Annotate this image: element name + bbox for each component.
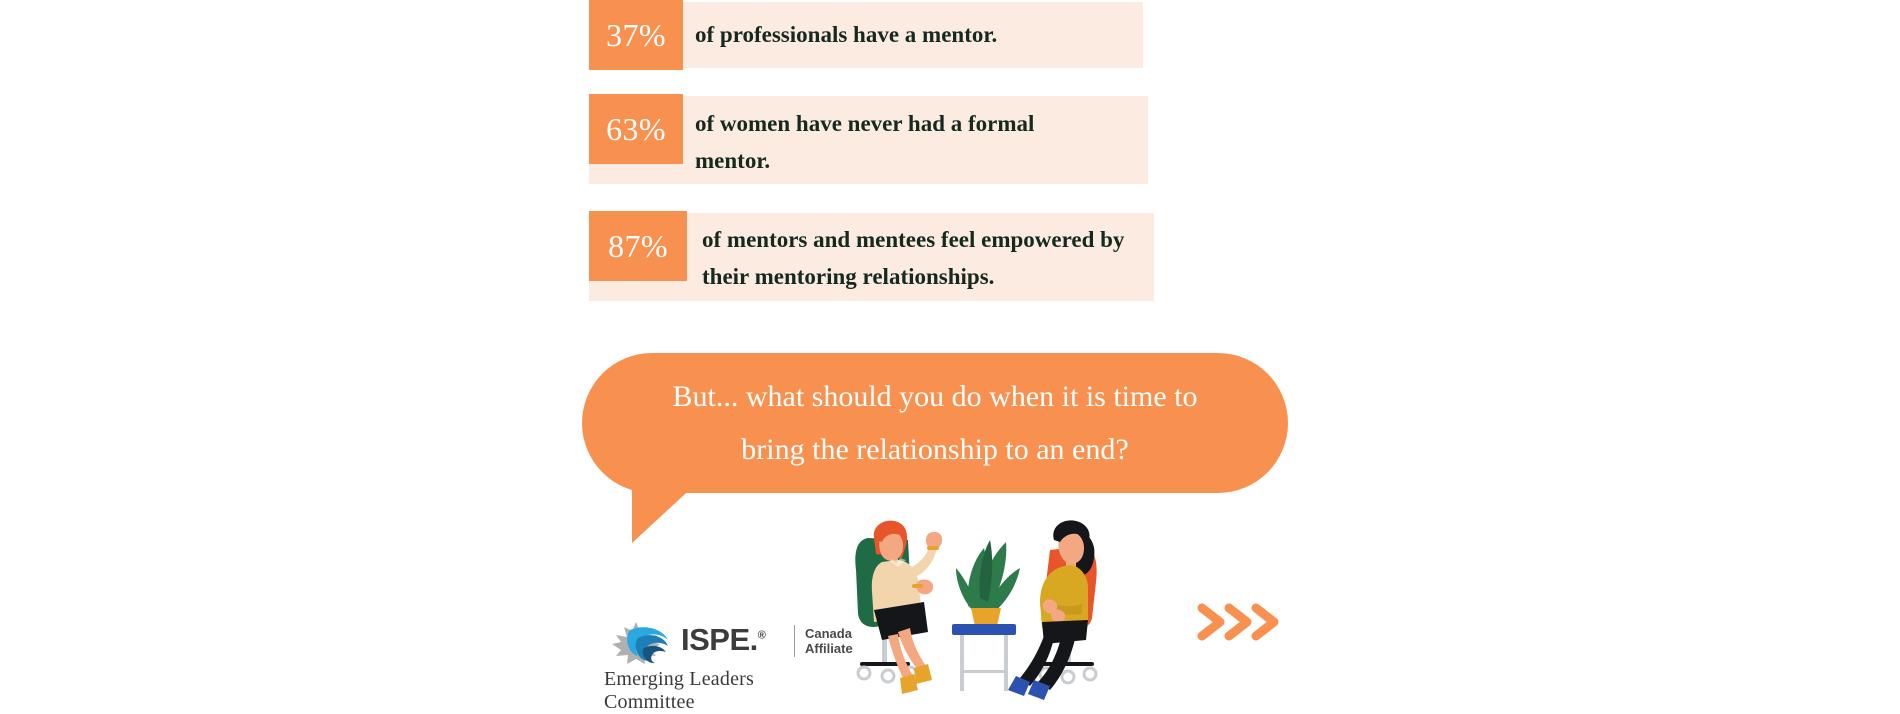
ispe-wordmark-text: ISPE	[681, 622, 750, 657]
chevron-right-icon	[1229, 608, 1247, 636]
stat-percent-badge: 63%	[589, 94, 683, 164]
two-women-conversation-illustration	[838, 518, 1108, 703]
stat-row: 87% of mentors and mentees feel empowere…	[589, 211, 1209, 307]
poster-canvas: 37% of professionals have a mentor. 63% …	[0, 0, 1900, 700]
speech-bubble-line-2: bring the relationship to an end?	[741, 423, 1128, 476]
affiliate-line-1: Canada	[805, 626, 853, 641]
statistics-list: 37% of professionals have a mentor. 63% …	[589, 0, 1209, 329]
stat-description: of professionals have a mentor.	[695, 16, 1135, 53]
ispe-canada-affiliate-logo: ISPE.® Canada Affiliate Emerging Leaders…	[604, 620, 834, 700]
ispe-wordmark: ISPE.®	[681, 622, 765, 658]
stat-row: 63% of women have never had a formal men…	[589, 94, 1209, 189]
chevron-right-icon	[1256, 608, 1274, 636]
logo-divider	[794, 625, 795, 657]
stat-percent-badge: 37%	[589, 0, 683, 70]
chevron-right-icon	[1202, 608, 1220, 636]
stat-percent-badge: 87%	[589, 211, 687, 281]
side-table-icon	[952, 624, 1016, 691]
ispe-wordmark-period: .	[750, 622, 758, 657]
next-arrows[interactable]	[1195, 596, 1290, 648]
speech-bubble: But... what should you do when it is tim…	[582, 353, 1288, 543]
speech-bubble-line-1: But... what should you do when it is tim…	[673, 370, 1198, 423]
right-woman-figure-icon	[1008, 520, 1094, 700]
affiliate-label: Canada Affiliate	[805, 626, 853, 656]
affiliate-line-2: Affiliate	[805, 641, 853, 656]
committee-subtitle: Emerging Leaders Committee	[604, 668, 834, 714]
registered-trademark-icon: ®	[758, 630, 766, 642]
stat-row: 37% of professionals have a mentor.	[589, 0, 1209, 72]
speech-bubble-text: But... what should you do when it is tim…	[582, 353, 1288, 493]
stat-description: of women have never had a formal mentor.	[695, 105, 1095, 179]
stat-description: of mentors and mentees feel empowered by…	[702, 221, 1157, 295]
potted-plant-icon	[956, 540, 1020, 626]
